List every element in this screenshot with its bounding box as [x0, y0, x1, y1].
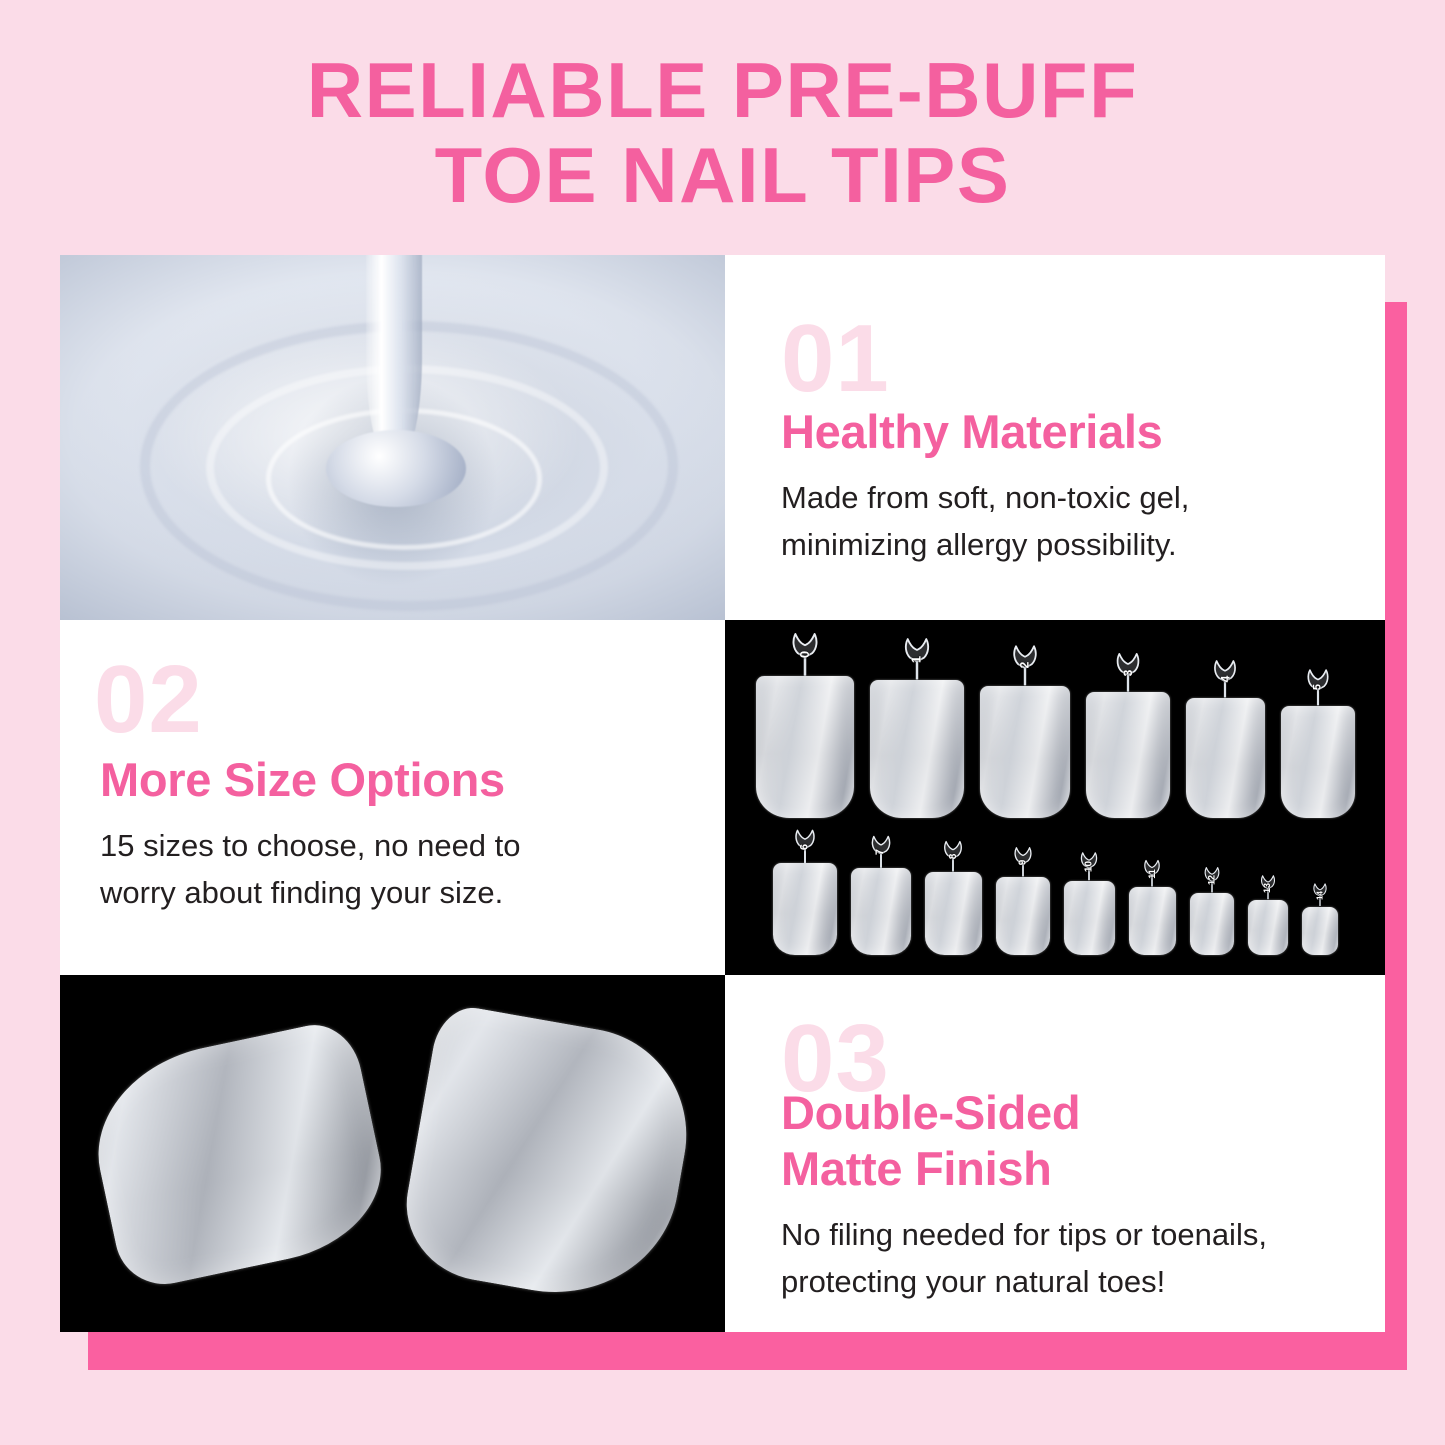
nail-tip-body: [1302, 907, 1338, 955]
butterfly-tab-icon: 6: [792, 829, 817, 863]
tip-size-label: 13: [1262, 883, 1272, 893]
tip-row-bottom: 67891011121314: [725, 825, 1385, 955]
tip-size-label: 7: [875, 849, 887, 855]
tip-size-label: 3: [1121, 669, 1135, 676]
feature-3-desc-line-2: protecting your natural toes!: [781, 1258, 1329, 1305]
title-line-1: RELIABLE PRE-BUFF: [0, 48, 1445, 133]
butterfly-tab-icon: 3: [1113, 652, 1142, 692]
butterfly-tab-icon: 7: [869, 835, 893, 868]
nail-tip-body: [925, 872, 982, 955]
butterfly-tab-icon: 11: [1142, 859, 1162, 887]
nail-tip-size-13: 13: [1248, 900, 1288, 955]
nail-tip-body: [1190, 893, 1234, 955]
nail-tip-body: [1186, 698, 1265, 818]
matte-tip-front: [80, 1017, 397, 1293]
feature-3-description: No filing needed for tips or toenails, p…: [781, 1211, 1329, 1305]
nail-tip-size-0: 0: [756, 676, 854, 818]
nail-tip-body: [1064, 881, 1115, 955]
nail-tip-size-10: 10: [1064, 881, 1115, 955]
butterfly-tab-icon: 9: [1012, 846, 1034, 877]
feature-1-description: Made from soft, non-toxic gel, minimizin…: [781, 474, 1329, 568]
feature-grid: 01 Healthy Materials Made from soft, non…: [60, 255, 1385, 1332]
nail-tip-body: [851, 868, 911, 955]
feature-3-desc-line-1: No filing needed for tips or toenails,: [781, 1211, 1329, 1258]
tip-size-label: 2: [1018, 662, 1032, 669]
tip-size-label: 9: [1017, 859, 1028, 865]
butterfly-tab-icon: 0: [789, 632, 821, 676]
nail-tip-size-5: 5: [1281, 706, 1355, 818]
tip-size-label: 11: [1147, 869, 1157, 879]
nail-tip-body: [1281, 706, 1355, 818]
tip-size-label: 10: [1084, 861, 1095, 872]
nail-tip-size-4: 4: [1186, 698, 1265, 818]
feature-3-cell: 03 Double-Sided Matte Finish No filing n…: [725, 975, 1385, 1332]
feature-1-number: 01: [781, 317, 890, 401]
tip-row-top: 012345: [725, 638, 1385, 818]
butterfly-tab-icon: 5: [1304, 668, 1331, 706]
page-title: RELIABLE PRE-BUFF TOE NAIL TIPS: [0, 48, 1445, 218]
feature-2-number: 02: [94, 658, 203, 742]
nail-tip-size-6: 6: [773, 863, 837, 955]
nail-tip-size-1: 1: [870, 680, 964, 818]
nail-tip-size-2: 2: [980, 686, 1070, 818]
feature-3-title-line-1: Double-Sided: [781, 1085, 1329, 1141]
nail-tip-size-12: 12: [1190, 893, 1234, 955]
photo-gel-cell: [60, 255, 725, 620]
tip-size-label: 1: [909, 655, 924, 662]
nail-tip-size-8: 8: [925, 872, 982, 955]
feature-3-title: Double-Sided Matte Finish: [781, 1085, 1329, 1197]
feature-1-title: Healthy Materials: [781, 404, 1329, 460]
matte-tips-photo: [60, 975, 725, 1332]
gel-swirl-photo: [60, 255, 725, 620]
feature-1-panel: 01 Healthy Materials Made from soft, non…: [725, 255, 1385, 620]
tip-size-label: 12: [1206, 875, 1216, 885]
feature-2-title: More Size Options: [100, 752, 505, 808]
butterfly-tab-icon: 1: [901, 637, 932, 680]
nail-tip-body: [870, 680, 964, 818]
tip-size-label: 8: [948, 854, 959, 860]
butterfly-tab-icon: 2: [1010, 644, 1040, 686]
nail-tip-size-9: 9: [996, 877, 1050, 955]
nail-tip-body: [996, 877, 1050, 955]
title-line-2: TOE NAIL TIPS: [0, 133, 1445, 218]
nail-tip-body: [773, 863, 837, 955]
feature-2-panel: 02 More Size Options 15 sizes to choose,…: [60, 620, 725, 975]
butterfly-tab-icon: 13: [1259, 874, 1277, 900]
nail-tip-size-3: 3: [1086, 692, 1170, 818]
nail-tip-body: [980, 686, 1070, 818]
tip-size-label: 6: [799, 843, 811, 849]
nail-tip-body: [1086, 692, 1170, 818]
nail-tip-body: [1248, 900, 1288, 955]
feature-1-desc-line-2: minimizing allergy possibility.: [781, 521, 1329, 568]
feature-1-desc-line-1: Made from soft, non-toxic gel,: [781, 474, 1329, 521]
butterfly-tab-icon: 8: [942, 840, 965, 872]
nail-tip-size-14: 14: [1302, 907, 1338, 955]
nail-tip-body: [756, 676, 854, 818]
gel-drop: [326, 430, 466, 507]
butterfly-tab-icon: 10: [1079, 851, 1100, 881]
photo-matte-cell: [60, 975, 725, 1332]
feature-2-desc-line-1: 15 sizes to choose, no need to: [100, 822, 521, 869]
tip-size-label: 5: [1312, 684, 1324, 690]
tip-size-label: 4: [1218, 676, 1232, 683]
butterfly-tab-icon: 12: [1202, 866, 1221, 893]
nail-tip-size-7: 7: [851, 868, 911, 955]
feature-2-description: 15 sizes to choose, no need to worry abo…: [100, 822, 521, 916]
tip-size-label: 14: [1315, 891, 1324, 900]
feature-2-cell: 02 More Size Options 15 sizes to choose,…: [60, 620, 725, 975]
feature-3-panel: 03 Double-Sided Matte Finish No filing n…: [725, 975, 1385, 1332]
butterfly-tab-icon: 4: [1211, 659, 1239, 698]
feature-3-title-line-2: Matte Finish: [781, 1141, 1329, 1197]
matte-tip-back: [395, 1002, 703, 1312]
photo-size-chart-cell: 012345 67891011121314: [725, 620, 1385, 975]
nail-tip-body: [1129, 887, 1176, 955]
size-chart-photo: 012345 67891011121314: [725, 620, 1385, 975]
nail-tip-size-11: 11: [1129, 887, 1176, 955]
feature-2-desc-line-2: worry about finding your size.: [100, 869, 521, 916]
feature-1-cell: 01 Healthy Materials Made from soft, non…: [725, 255, 1385, 620]
butterfly-tab-icon: 14: [1311, 882, 1328, 907]
tip-size-label: 0: [797, 651, 812, 658]
